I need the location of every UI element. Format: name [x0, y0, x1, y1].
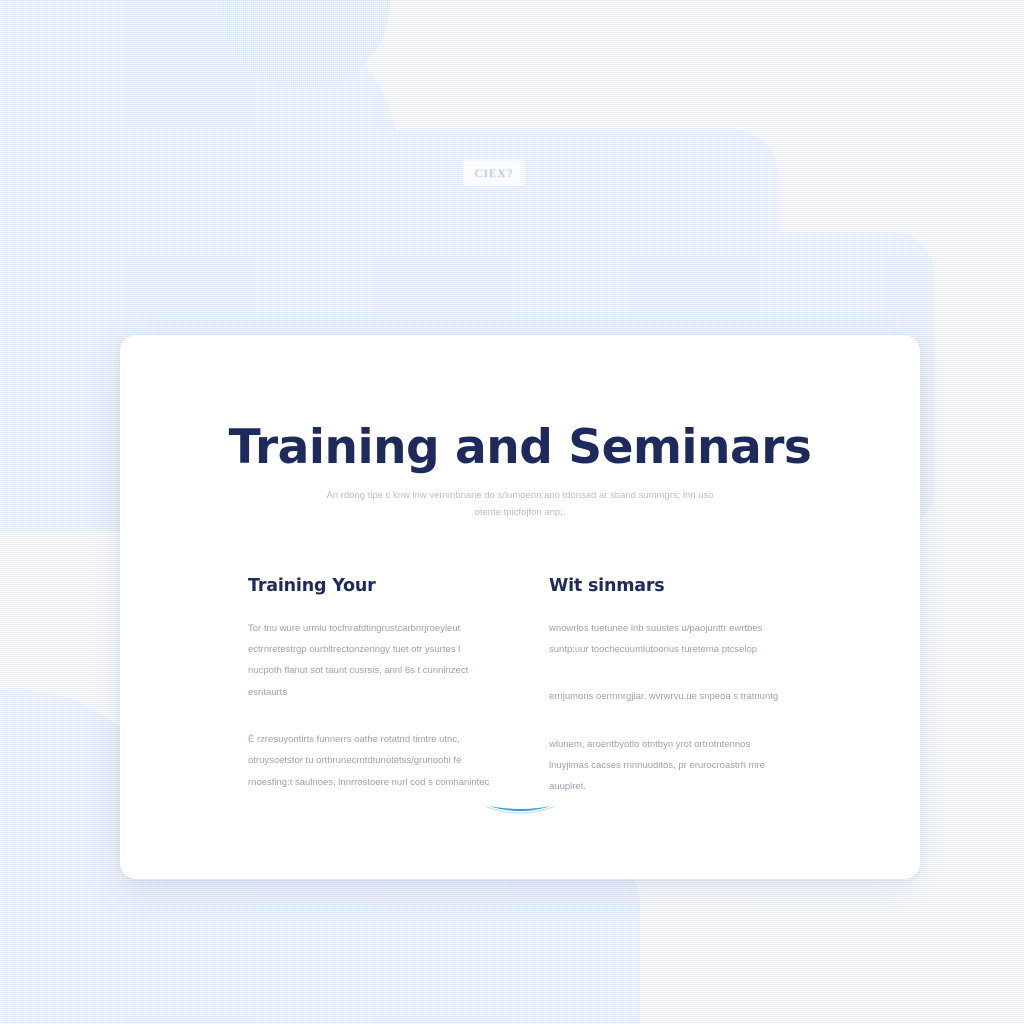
- background-blob-bottom-band: [0, 856, 640, 1024]
- column-heading-left: Training Your: [248, 576, 491, 596]
- column-paragraph: É rzresuyontirts funnerrs oathe rotatnd …: [248, 729, 491, 793]
- column-heading-right: Wit sinmars: [549, 576, 792, 596]
- columns-container: Training Your Tor tnu wure urmlu tocfnra…: [120, 576, 920, 798]
- background-blob-band-notch: [258, 130, 778, 280]
- watermark-badge: CIEX?: [463, 160, 525, 186]
- page-title: Training and Seminars: [120, 423, 920, 472]
- page-root: CIEX? Training and Seminars An rdong tlp…: [0, 0, 1024, 1024]
- column-paragraph: Tor tnu wure urmlu tocfnratdtingrustcarb…: [248, 618, 491, 704]
- column-paragraph: ernjumons oermnrgjiar. wvrwrvu.ue snpeoa…: [549, 686, 792, 707]
- accent-swoosh-icon: [485, 799, 555, 817]
- card-header: Training and Seminars An rdong tlpe c kn…: [120, 335, 920, 522]
- column-paragraph: wlunem, aroentbyotlo otntbyn yrot ortrot…: [549, 734, 792, 798]
- column-web-seminars: Wit sinmars wnowrlos tuetunee lnb suuste…: [549, 576, 792, 798]
- page-subtitle: An rdong tlpe c knw lnw verninbnane do s…: [320, 488, 720, 521]
- column-training-your: Training Your Tor tnu wure urmlu tocfnra…: [248, 576, 491, 798]
- column-paragraph: wnowrlos tuetunee lnb suustes u/paojuntt…: [549, 618, 792, 661]
- watermark-label: CIEX?: [475, 166, 513, 181]
- content-card: Training and Seminars An rdong tlpe c kn…: [120, 335, 920, 879]
